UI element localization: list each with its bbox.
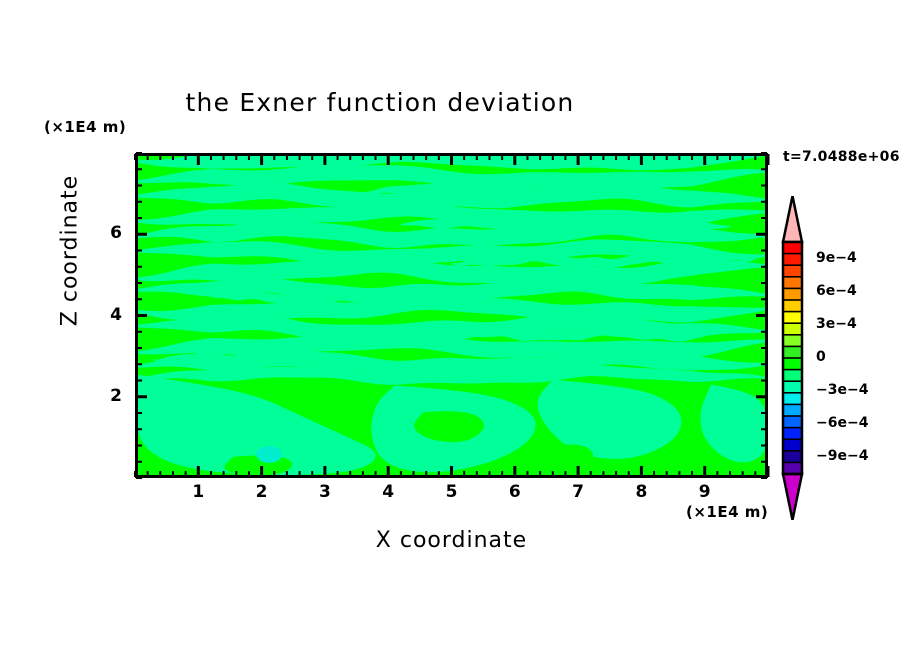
x-tick-label-8: 8 — [626, 482, 656, 502]
x-tick-label-9: 9 — [690, 482, 720, 502]
x-tick-label-4: 4 — [373, 482, 403, 502]
x-axis-unit-label: (×1E4 m) — [686, 503, 768, 521]
page-title: the Exner function deviation — [0, 88, 760, 117]
colorbar-label-6: −9e−4 — [816, 448, 868, 464]
colorbar-label-2: 3e−4 — [816, 316, 857, 332]
y-tick-label-2: 2 — [100, 386, 122, 406]
colorbar-label-1: 6e−4 — [816, 283, 857, 299]
colorbar-label-4: −3e−4 — [816, 382, 868, 398]
x-axis-title: X coordinate — [135, 528, 768, 553]
x-tick-label-2: 2 — [247, 482, 277, 502]
y-axis-title: Z coordinate — [58, 151, 83, 351]
colorbar-label-0: 9e−4 — [816, 250, 857, 266]
y-tick-label-6: 6 — [100, 223, 122, 243]
x-tick-label-5: 5 — [437, 482, 467, 502]
colorbar-label-5: −6e−4 — [816, 415, 868, 431]
colorbar-label-3: 0 — [816, 349, 826, 365]
colorbar[interactable] — [779, 196, 819, 520]
x-tick-label-1: 1 — [183, 482, 213, 502]
x-tick-label-6: 6 — [500, 482, 530, 502]
y-axis-unit-label: (×1E4 m) — [44, 118, 126, 136]
axis-ticks — [132, 150, 772, 484]
x-tick-label-7: 7 — [563, 482, 593, 502]
time-annotation: t=7.0488e+06 — [783, 149, 900, 165]
x-tick-label-3: 3 — [310, 482, 340, 502]
y-tick-label-4: 4 — [100, 305, 122, 325]
